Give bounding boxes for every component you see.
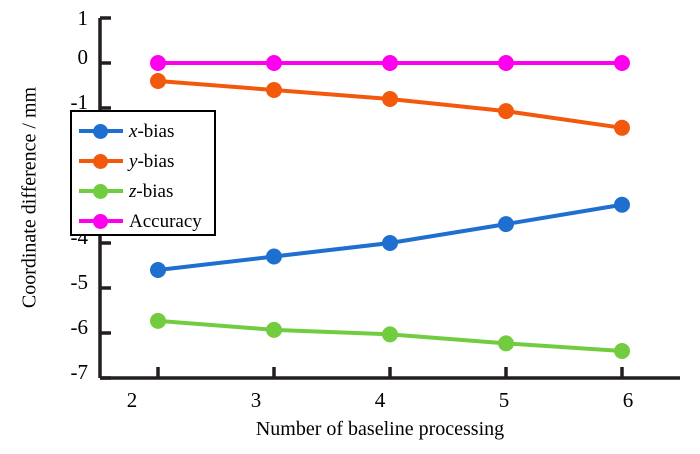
data-point xyxy=(150,262,166,278)
data-point xyxy=(150,73,166,89)
data-point xyxy=(614,343,630,359)
data-point xyxy=(498,335,514,351)
legend-label-rest-y: -bias xyxy=(137,151,174,172)
data-point xyxy=(266,55,282,71)
data-point xyxy=(266,82,282,98)
data-point xyxy=(498,216,514,232)
data-point xyxy=(382,326,398,342)
series-x-bias xyxy=(150,197,630,278)
legend-item-z-bias[interactable]: z-bias xyxy=(72,176,214,206)
data-point xyxy=(150,55,166,71)
legend-swatch-z-bias xyxy=(79,183,123,199)
series-y-bias xyxy=(150,73,630,136)
series-z-bias xyxy=(150,313,630,359)
data-series-layer xyxy=(150,55,630,359)
legend-swatch-y-bias xyxy=(79,153,123,169)
legend-label-rest-x: -bias xyxy=(137,121,174,142)
legend-label-rest-accuracy: Accuracy xyxy=(129,211,202,232)
data-point xyxy=(498,103,514,119)
chart-figure: Coordinate difference / mm Number of bas… xyxy=(0,0,700,454)
legend-item-y-bias[interactable]: y-bias xyxy=(72,146,214,176)
data-point xyxy=(382,55,398,71)
legend-label-x-bias: x-bias xyxy=(129,122,174,141)
legend-item-accuracy[interactable]: Accuracy xyxy=(72,206,214,236)
legend-marker-z-bias xyxy=(93,184,108,199)
data-point xyxy=(382,91,398,107)
legend-item-x-bias[interactable]: x-bias xyxy=(72,116,214,146)
data-point xyxy=(498,55,514,71)
legend-swatch-accuracy xyxy=(79,213,123,229)
data-point xyxy=(150,313,166,329)
legend-marker-accuracy xyxy=(93,214,108,229)
legend-label-rest-z: -bias xyxy=(136,181,173,202)
data-point xyxy=(614,120,630,136)
legend-label-accuracy: Accuracy xyxy=(129,212,202,231)
legend-marker-y-bias xyxy=(93,154,108,169)
data-point xyxy=(382,235,398,251)
data-point xyxy=(266,249,282,265)
legend-label-y-bias: y-bias xyxy=(129,152,174,171)
series-Accuracy xyxy=(150,55,630,71)
legend-marker-x-bias xyxy=(93,124,108,139)
legend-label-z-bias: z-bias xyxy=(129,182,173,201)
data-point xyxy=(614,197,630,213)
data-point xyxy=(266,322,282,338)
legend-swatch-x-bias xyxy=(79,123,123,139)
data-point xyxy=(614,55,630,71)
legend: x-bias y-bias z-bias Accuracy xyxy=(70,110,216,236)
